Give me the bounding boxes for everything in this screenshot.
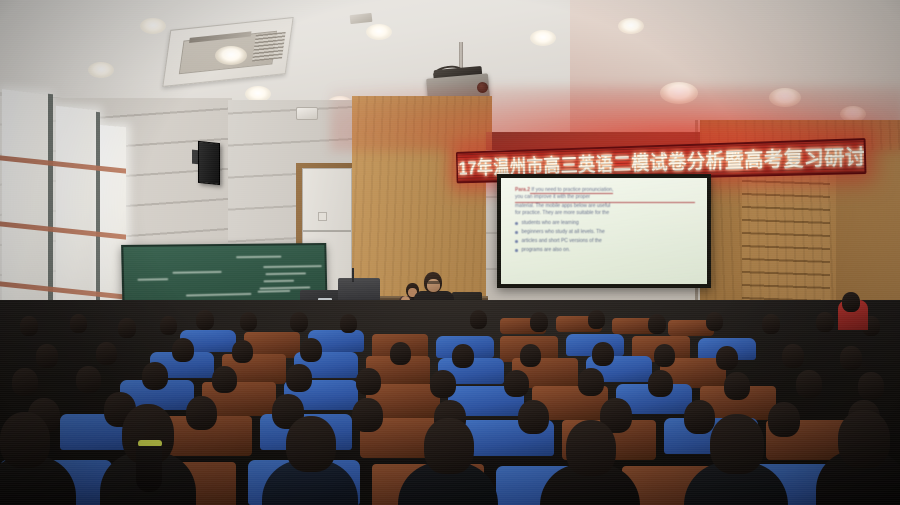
attendee-head [768,402,800,437]
attendee-head [160,316,177,335]
attendee-head [504,370,529,397]
attendee-head [356,368,381,395]
attendee-head [196,310,214,330]
wall-socket [318,212,327,221]
attendee-head [340,314,357,333]
ceiling-downlight [618,18,644,34]
attendee-head-near [566,420,616,476]
screen-glare [501,178,707,284]
ac-grille [252,32,286,62]
attendee-head [452,344,474,368]
attendee-head [816,312,834,332]
attendee-head [12,368,38,396]
attendee-head-near [838,410,890,468]
window-wall [0,82,122,320]
attendee-head [796,370,822,398]
attendee-head [186,396,217,430]
attendee-head [520,344,541,367]
attendee-head-near [710,414,764,474]
ceiling-downlight [88,62,114,78]
attendee-head [716,346,738,370]
attendee-head [172,338,194,362]
attendee-head [76,366,101,393]
ceiling-downlight [530,30,556,46]
attendee-head-near [0,412,50,468]
ceiling-downlight [140,18,166,34]
attendee-head [300,338,322,362]
attendee-head [648,370,673,397]
attendee-head [470,310,487,329]
attendee-head [858,372,884,400]
lecture-hall-photo: 2017年温州市高三英语二模试卷分析暨高考复习研讨会 Para.2 If you… [0,0,900,505]
attendee-head [240,312,257,331]
attendee-head [592,342,614,366]
door-panel-line [303,230,351,232]
ceiling-downlight [215,46,247,65]
projection-screen: Para.2 If you need to practice pronuncia… [501,178,707,284]
window-pane [2,89,50,309]
attendee-head [724,372,750,400]
attendee-head [352,398,383,432]
attendee-head [118,318,136,338]
window-mullion [48,94,53,311]
attendee-head [36,344,58,368]
attendee-head [70,314,87,333]
attendee-head [286,364,312,392]
window-pane [56,106,98,316]
window-mullion [96,112,100,320]
attendee-head [588,310,605,329]
attendee-head [290,312,308,332]
attendee-head [530,312,548,332]
wall-speaker [198,141,220,185]
attendee-head [212,366,237,393]
attendee-head [840,346,862,370]
attendee-head [578,368,604,396]
attendee-head [518,400,549,434]
attendee-head [706,312,723,331]
attendee-head [142,362,168,390]
attendee-head [390,342,411,365]
attendee-head [232,340,253,363]
attendee-head [96,342,117,365]
ponytail [136,446,162,492]
attendee-head [762,314,780,334]
projection-screen-frame: Para.2 If you need to practice pronuncia… [497,174,711,288]
attendee-head [684,400,715,434]
attendee-head [430,370,456,398]
attendee-head [20,316,38,336]
attendee-head [842,292,860,312]
attendee-head [782,344,804,368]
attendee-head [648,314,666,334]
wall-sensor-box [296,107,318,120]
ceiling-downlight [366,24,392,40]
attendee-head [654,344,675,367]
microphone-stand [352,268,354,282]
attendee-head-near [286,416,336,472]
attendee-head-near [424,418,474,474]
presenter-glasses [427,281,440,284]
